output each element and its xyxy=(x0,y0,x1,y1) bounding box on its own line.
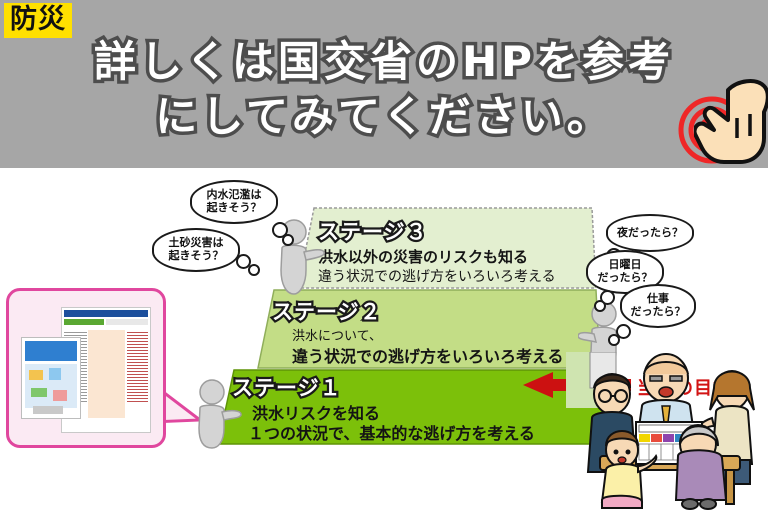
doc-header-bar xyxy=(64,310,148,317)
page-root: 防災 詳しくは国交省のHPを参考 にしてみてください。 xyxy=(0,0,768,512)
bubble-right-1-line1: 夜だったら？ xyxy=(617,226,683,239)
pointing-hand-icon xyxy=(694,78,768,164)
stage-1-line2: １つの状況で、基本的な逃げ方を考える xyxy=(248,420,535,444)
booklet-title-bar xyxy=(25,341,77,361)
stage-1-title: ステージ１ xyxy=(232,372,342,402)
stage-3-title: ステージ３ xyxy=(318,216,428,246)
bubble-left-1-line1: 内水氾濫は xyxy=(207,188,262,201)
doc-subbar-gray xyxy=(106,319,148,325)
bubble-left-2-dot-small xyxy=(248,264,260,276)
bubble-left-1-dot-small xyxy=(282,234,294,246)
bubble-right-3-dot-small xyxy=(608,334,620,346)
header-banner: 防災 詳しくは国交省のHPを参考 にしてみてください。 xyxy=(0,0,768,168)
bubble-left-1-line2: 起きそう？ xyxy=(207,201,262,214)
bubble-left-2-line2: 起きそう？ xyxy=(169,249,224,262)
bubble-left-1: 内水氾濫は 起きそう？ xyxy=(190,180,278,224)
stage-2-line1: 洪水について、 xyxy=(292,325,382,344)
bubble-right-2-dot-small xyxy=(594,300,606,312)
booklet-illustration xyxy=(25,364,77,408)
doc-subbar-green xyxy=(64,319,104,325)
bubble-left-2-line1: 土砂災害は xyxy=(169,236,224,249)
family-around-table-icon xyxy=(566,352,768,512)
disaster-prevention-badge: 防災 xyxy=(4,3,72,38)
stage-3-line1: 洪水以外の災害のリスクも知る xyxy=(318,246,528,267)
person-figure-stage1-icon xyxy=(190,378,244,450)
stage-2-title: ステージ２ xyxy=(272,296,382,326)
page-title: 詳しくは国交省のHPを参考 にしてみてください。 xyxy=(0,34,768,145)
bubble-right-3: 仕事 だったら？ xyxy=(620,284,696,328)
bubble-right-3-line1: 仕事 xyxy=(647,292,669,305)
stage-2-line2: 違う状況での逃げ方をいろいろ考える xyxy=(292,343,564,367)
doc-center-panel xyxy=(88,330,125,418)
doc-right-lines xyxy=(127,330,148,428)
nigekid-booklet-thumbnail xyxy=(21,337,81,419)
page-title-line2: にしてみてください。 xyxy=(0,89,768,144)
page-title-line1: 詳しくは国交省のHPを参考 xyxy=(94,37,674,86)
document-callout[interactable] xyxy=(6,288,166,448)
bubble-right-2-line2: だったら？ xyxy=(598,271,653,284)
bubble-right-2-line1: 日曜日 xyxy=(609,258,642,271)
bubble-left-2: 土砂災害は 起きそう？ xyxy=(152,228,240,272)
bubble-right-3-line2: だったら？ xyxy=(631,305,686,318)
bubble-right-1: 夜だったら？ xyxy=(606,214,694,252)
stage-3-line2: 違う状況での逃げ方をいろいろ考える xyxy=(318,266,556,286)
